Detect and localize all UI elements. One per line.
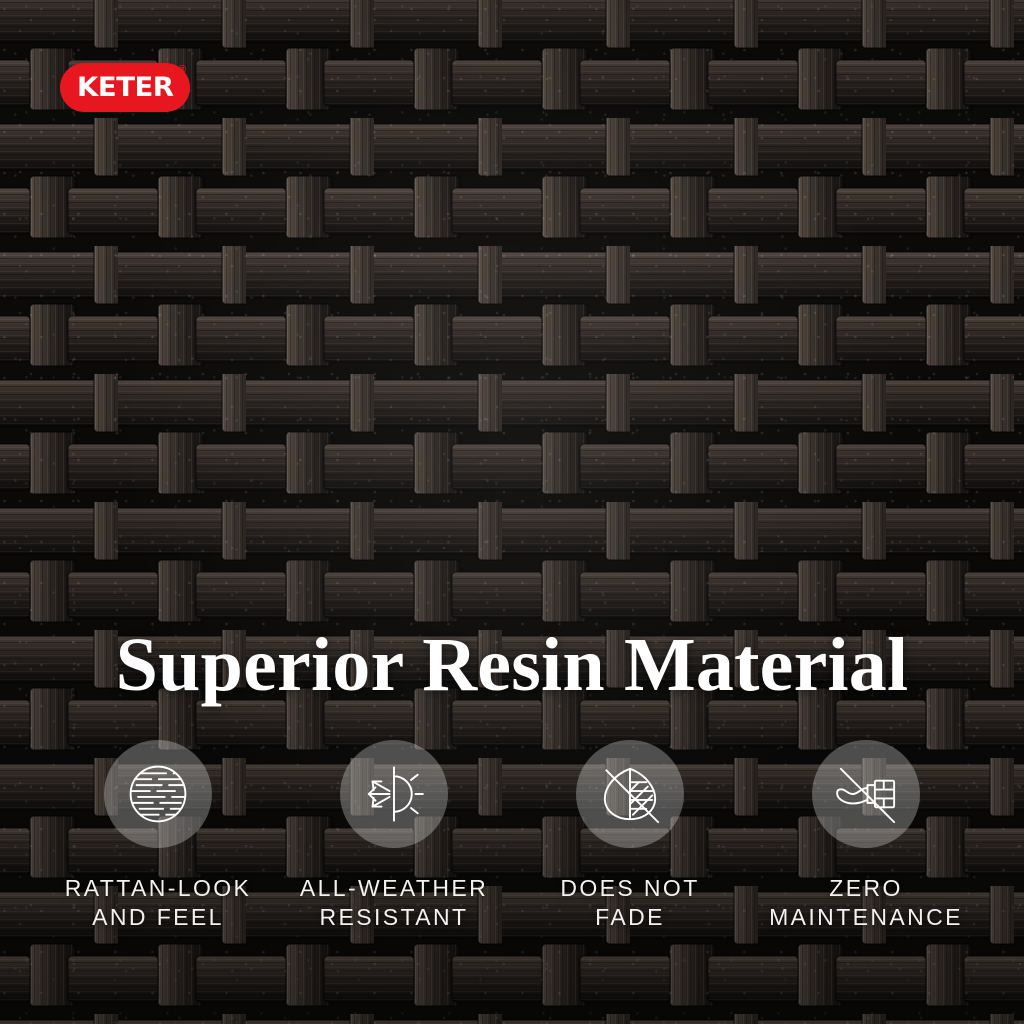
feature-badge — [340, 740, 448, 848]
logo-wordmark: KETER — [77, 74, 173, 101]
feature-item-rattan-look: RATTAN-LOOK AND FEEL — [40, 740, 276, 933]
logo-pill-shape: KETER — [60, 63, 190, 112]
page-title: Superior Resin Material — [0, 627, 1024, 703]
feature-label: ALL-WEATHER RESISTANT — [300, 874, 488, 933]
feature-badge — [104, 740, 212, 848]
feature-label: ZERO MAINTENANCE — [769, 874, 963, 933]
feature-badge — [812, 740, 920, 848]
feature-list: RATTAN-LOOK AND FEEL — [40, 740, 984, 933]
feature-item-does-not-fade: DOES NOT FADE — [512, 740, 748, 933]
feature-item-all-weather: ALL-WEATHER RESISTANT — [276, 740, 512, 933]
feature-label: RATTAN-LOOK AND FEEL — [65, 874, 252, 933]
product-feature-banner: KETER ® Superior Resin Material — [0, 0, 1024, 1024]
feature-badge — [576, 740, 684, 848]
leaf-no-fade-icon — [593, 757, 667, 831]
brand-logo: KETER ® — [60, 63, 200, 115]
wood-grain-circle-icon — [121, 757, 195, 831]
feature-label: DOES NOT FADE — [560, 874, 699, 933]
registered-trademark-icon: ® — [178, 65, 186, 76]
snowflake-sun-icon — [357, 757, 431, 831]
feature-item-zero-maintenance: ZERO MAINTENANCE — [748, 740, 984, 933]
paintbrush-slashed-icon — [829, 757, 903, 831]
